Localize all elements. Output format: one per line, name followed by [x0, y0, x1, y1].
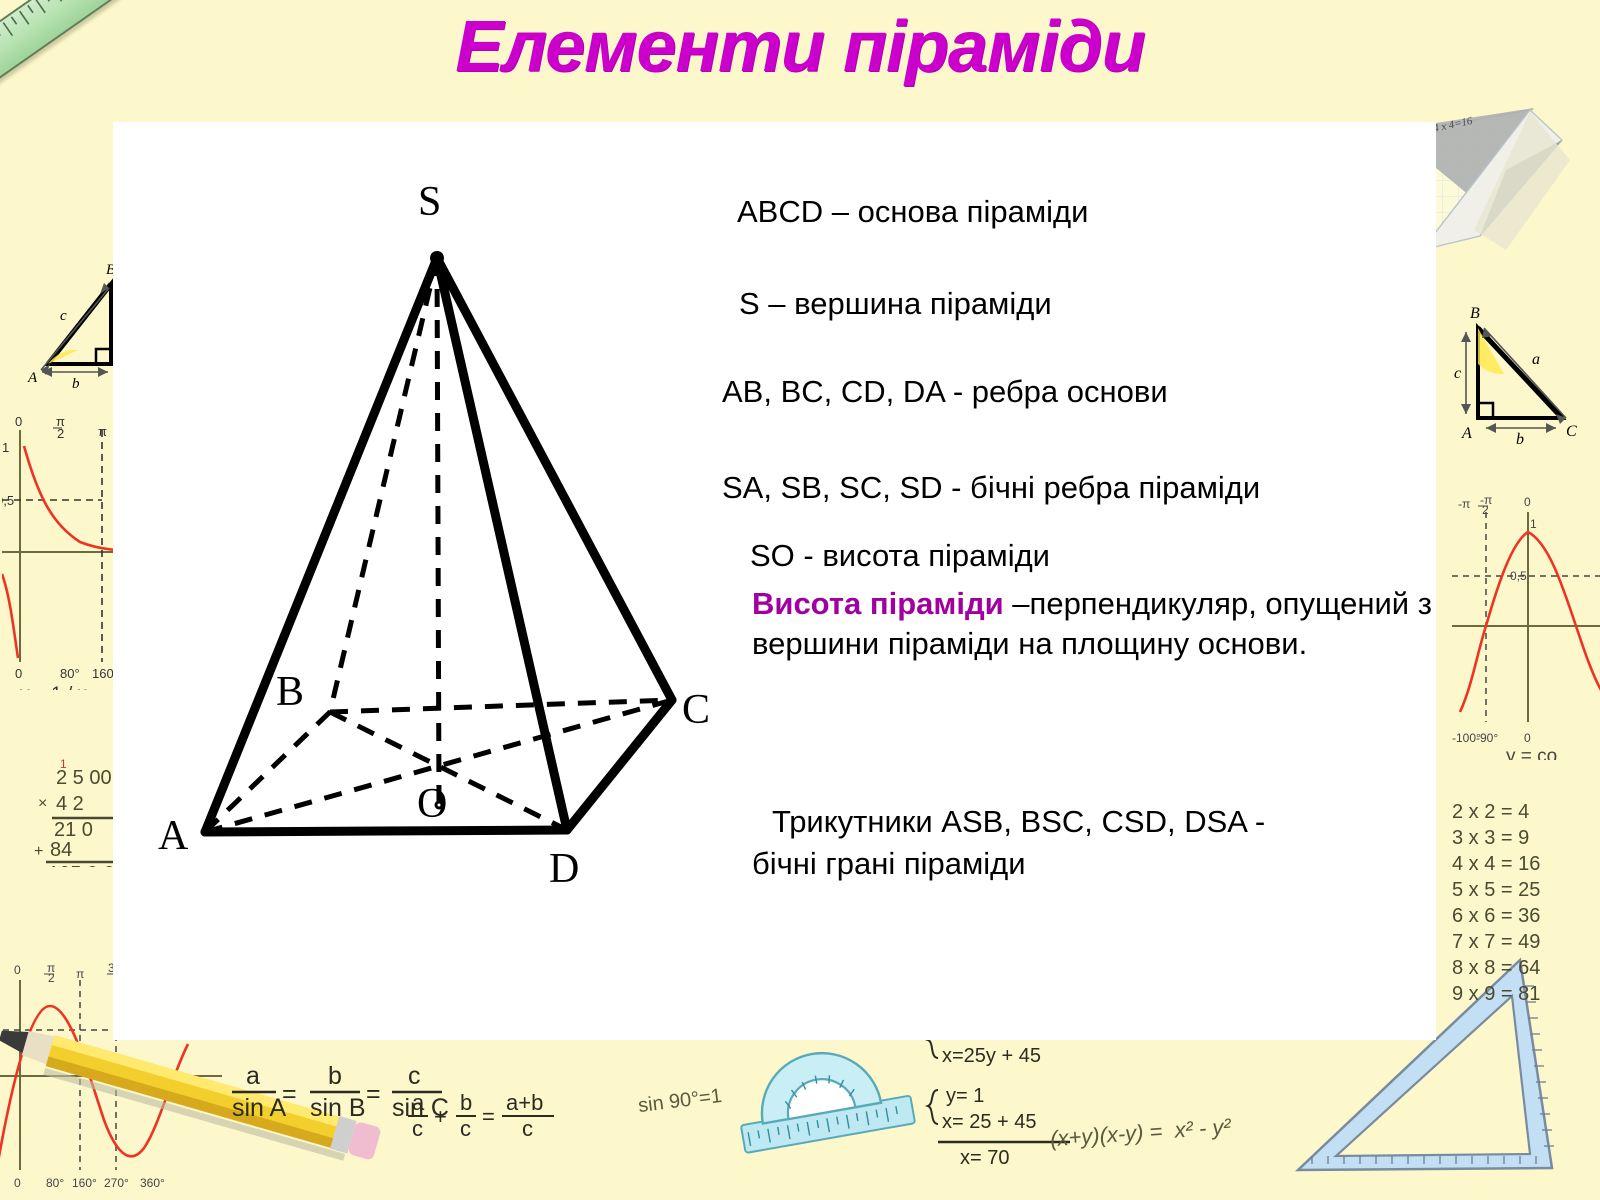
svg-text:80°: 80° — [60, 666, 80, 681]
svg-text:9 x 9 = 81: 9 x 9 = 81 — [1452, 983, 1540, 1005]
definition-term: Висота піраміди — [752, 586, 1004, 621]
svg-text:-100°: -100° — [1452, 731, 1481, 745]
svg-text:270°: 270° — [104, 1176, 129, 1190]
svg-text:5 x 5 = 25: 5 x 5 = 25 — [1452, 879, 1540, 901]
slide-root: ABC bac 0π2 π 10,5 080°160° — [0, 0, 1600, 1200]
svg-text:a: a — [246, 1062, 260, 1090]
svg-text:×: × — [38, 795, 47, 812]
sin90-formula: sin 90°=1 — [637, 1085, 723, 1118]
right-triangle-right-icon: BAC bca — [1440, 278, 1590, 448]
svg-text:y = co: y = co — [1506, 746, 1557, 760]
squares-table-icon: 2 x 2 = 4 3 x 3 = 9 4 x 4 = 16 5 x 5 = 2… — [1452, 800, 1600, 1000]
svg-text:4 x 4 = 16: 4 x 4 = 16 — [1452, 853, 1540, 875]
mult-partial2: 84 — [50, 839, 72, 861]
difference-of-squares-formula: (x+y)(x-y) = x² - y² — [1049, 1114, 1231, 1153]
svg-text:0: 0 — [1524, 495, 1531, 509]
law-of-sines-formula: a sin A = b sin B = c sin C — [228, 1058, 558, 1148]
svg-text:0,5: 0,5 — [2, 493, 14, 508]
svg-text:6 x 6 = 36: 6 x 6 = 36 — [1452, 905, 1540, 927]
svg-text:3 x 3 = 9: 3 x 3 = 9 — [1452, 827, 1529, 849]
page-title: Елементи піраміди — [0, 6, 1600, 88]
svg-text:C: C — [1566, 423, 1577, 440]
explanation-apex: S – вершина піраміди — [739, 284, 1052, 324]
svg-text:-90°: -90° — [1476, 731, 1498, 745]
svg-text:c: c — [60, 308, 67, 324]
svg-text:2: 2 — [57, 426, 64, 441]
protractor-icon — [735, 1040, 910, 1150]
content-card — [113, 122, 1436, 1040]
svg-text:c: c — [460, 1116, 471, 1141]
svg-text:4 x 4=16: 4 x 4=16 — [1432, 115, 1474, 135]
svg-text:x= 70: x= 70 — [960, 1147, 1009, 1169]
svg-text:-π: -π — [1480, 493, 1492, 507]
explanation-height: SO - висота піраміди — [750, 536, 1050, 576]
svg-text:A: A — [27, 370, 38, 386]
svg-text:1: 1 — [1530, 517, 1537, 531]
mult-line2: 4 2 — [56, 793, 84, 815]
svg-text:π: π — [76, 967, 84, 981]
faces-note-line2: бічні грані піраміди — [752, 844, 1026, 884]
mult-partial1: 21 0 — [54, 819, 93, 841]
svg-text:x=25y + 45: x=25y + 45 — [942, 1045, 1041, 1067]
svg-text:B: B — [1470, 305, 1480, 322]
svg-text:0: 0 — [14, 1176, 21, 1190]
svg-text:c: c — [1454, 365, 1461, 382]
vertex-label-b: B — [276, 668, 304, 716]
graph-cosine-icon: -π-π2 0 10,5 -100°-90°0 y = co — [1452, 480, 1600, 760]
svg-text:0: 0 — [15, 414, 22, 429]
svg-text:+: + — [34, 843, 43, 860]
svg-text:y = 1 / x: y = 1 / x — [20, 684, 88, 690]
svg-text:0: 0 — [1524, 731, 1531, 745]
svg-text:b: b — [1516, 431, 1524, 448]
svg-text:sin B: sin B — [310, 1094, 366, 1122]
svg-text:sin C: sin C — [392, 1094, 449, 1122]
svg-text:-π: -π — [1458, 497, 1470, 511]
svg-text:A: A — [1461, 425, 1472, 442]
svg-text:2: 2 — [48, 971, 55, 985]
svg-text:b: b — [328, 1062, 342, 1090]
explanation-base: ABCD – основа піраміди — [737, 192, 1088, 232]
vertex-label-o: O — [417, 780, 447, 828]
svg-text:a: a — [1532, 351, 1540, 368]
svg-text:c: c — [412, 1116, 423, 1141]
svg-text:x= 25 + 45: x= 25 + 45 — [942, 1111, 1037, 1133]
svg-text:0: 0 — [14, 963, 21, 977]
svg-text:80°: 80° — [46, 1176, 64, 1190]
svg-text:=: = — [366, 1080, 381, 1108]
definition-height: Висота піраміди –перпендикуляр, опущений… — [752, 584, 1442, 663]
svg-text:a: a — [412, 1090, 425, 1115]
svg-text:sin A: sin A — [232, 1094, 287, 1122]
explanation-base-edges: AB, BC, CD, DA - ребра основи — [722, 372, 1168, 412]
explanation-side-edges: SA, SB, SC, SD - бічні ребра піраміди — [722, 468, 1260, 508]
svg-text:=: = — [282, 1080, 297, 1108]
fraction-sum-formula: a c + b c = a+b c — [408, 1088, 628, 1168]
svg-text:c: c — [522, 1116, 533, 1141]
svg-text:b: b — [460, 1090, 472, 1115]
vertex-label-c: C — [682, 686, 710, 734]
svg-text:2: 2 — [1482, 503, 1489, 517]
svg-text:0,5: 0,5 — [1510, 569, 1527, 583]
mult-line1: 2 5 00 — [56, 767, 112, 789]
svg-text:360°: 360° — [140, 1176, 165, 1190]
svg-text:2 x 2 = 4: 2 x 2 = 4 — [1452, 801, 1529, 823]
svg-text:1: 1 — [60, 757, 67, 771]
svg-text:7 x 7 = 49: 7 x 7 = 49 — [1452, 931, 1540, 953]
faces-note-line1: Трикутники ASB, BSC, CSD, DSA - — [772, 802, 1265, 842]
vertex-label-d: D — [549, 845, 579, 893]
svg-text:π: π — [98, 424, 107, 439]
svg-text:π: π — [56, 414, 65, 429]
svg-text:0: 0 — [15, 666, 22, 681]
svg-text:+: + — [434, 1104, 447, 1129]
svg-text:8 x 8 = 64: 8 x 8 = 64 — [1452, 957, 1540, 979]
svg-text:b: b — [72, 376, 80, 392]
svg-text:y= 1: y= 1 — [946, 1085, 984, 1107]
vertex-label-a: A — [158, 812, 188, 860]
svg-text:=: = — [482, 1104, 495, 1129]
svg-text:c: c — [408, 1062, 421, 1090]
svg-text:160°: 160° — [72, 1176, 97, 1190]
vertex-label-s: S — [418, 178, 441, 226]
svg-text:a+b: a+b — [506, 1090, 543, 1115]
svg-text:π: π — [47, 961, 55, 975]
svg-text:1: 1 — [2, 440, 9, 455]
